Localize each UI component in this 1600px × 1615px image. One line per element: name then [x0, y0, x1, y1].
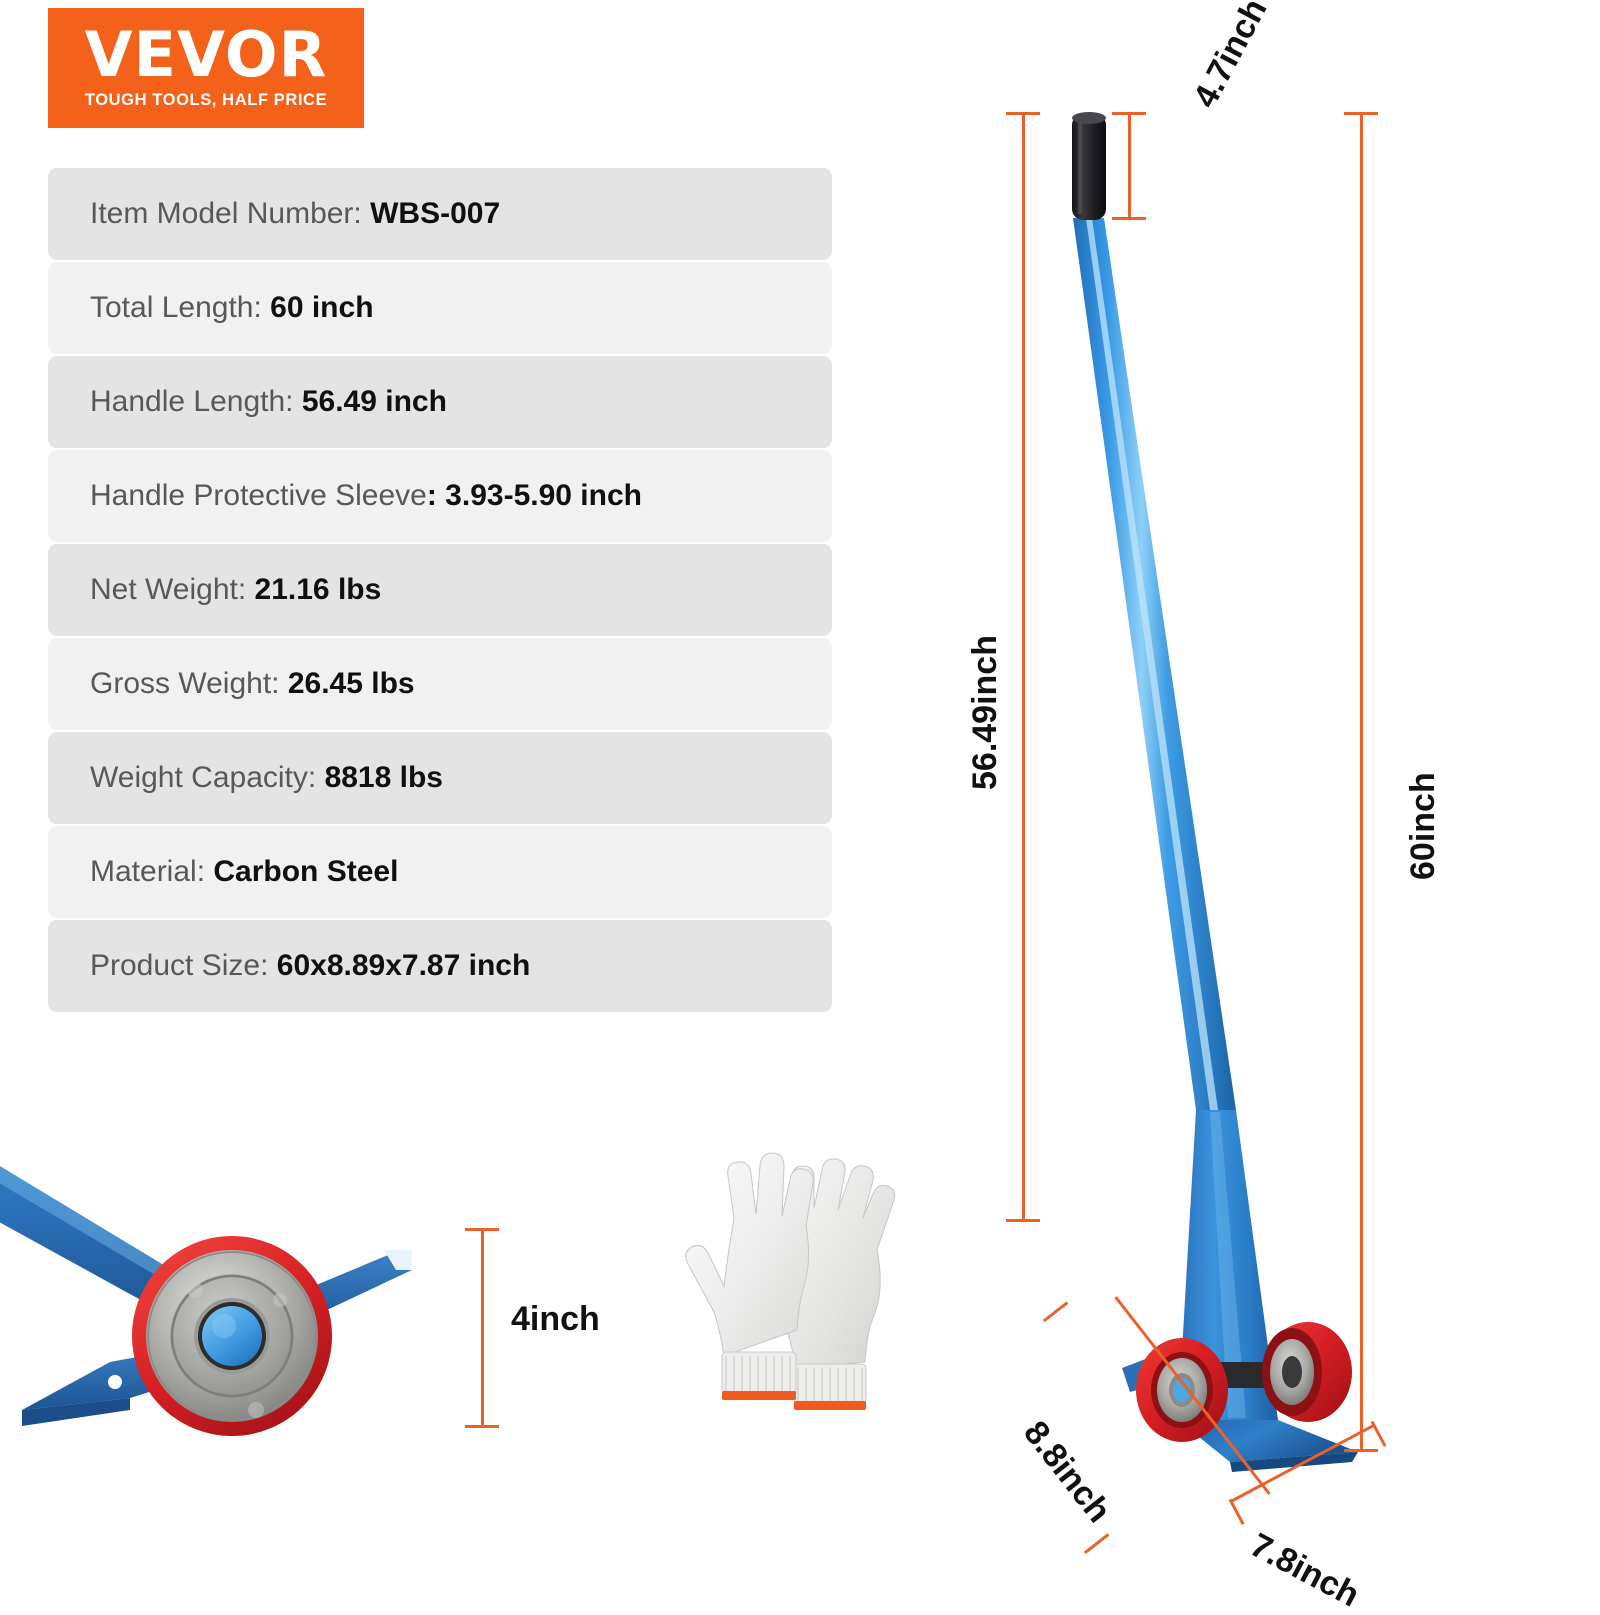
- dim-line-total: [1360, 112, 1363, 1452]
- spec-row: Handle Length: 56.49 inch: [48, 356, 832, 448]
- spec-label: Gross Weight:: [90, 667, 288, 701]
- spec-label: Product Size:: [90, 949, 277, 983]
- toe-plate: [1178, 1420, 1358, 1462]
- spec-label: Handle Length:: [90, 385, 302, 419]
- dim-line-sleeve: [1128, 112, 1131, 220]
- dim-cap-handle-bottom: [1006, 1219, 1040, 1222]
- spec-row: Net Weight: 21.16 lbs: [48, 544, 832, 636]
- rear-fin: [1122, 1340, 1200, 1392]
- product-spec-sheet: VEVOR TOUGH TOOLS, HALF PRICE Item Model…: [0, 0, 1600, 1600]
- brand-tagline: TOUGH TOOLS, HALF PRICE: [85, 91, 327, 110]
- spec-label: Handle Protective Sleeve: [90, 479, 427, 513]
- spec-value: 8818 lbs: [325, 761, 443, 795]
- dim-line-handle: [1022, 112, 1025, 1222]
- spec-value: 56.49 inch: [302, 385, 447, 419]
- wheel-right: [1262, 1322, 1352, 1422]
- dim-label-width: 7.8inch: [1244, 1526, 1366, 1615]
- dim-label-total: 60inch: [1404, 772, 1443, 880]
- spec-row: Product Size: 60x8.89x7.87 inch: [48, 920, 832, 1012]
- spec-label: Total Length:: [90, 291, 270, 325]
- closeup-wheel: [132, 1236, 332, 1436]
- spec-value: 26.45 lbs: [288, 667, 415, 701]
- dim-cap-sleeve-bottom: [1112, 217, 1146, 220]
- glove-cuff-band: [722, 1391, 796, 1400]
- dim-line-wheel: [481, 1228, 484, 1428]
- dim-label-depth: 8.8inch: [1015, 1414, 1118, 1530]
- dim-label-wheel: 4inch: [511, 1300, 600, 1339]
- spec-row: Gross Weight: 26.45 lbs: [48, 638, 832, 730]
- dim-cap-sleeve-top: [1112, 112, 1146, 115]
- dim-cap-depth-end: [1084, 1533, 1109, 1554]
- spec-row: Material: Carbon Steel: [48, 826, 832, 918]
- dim-cap-width-end: [1371, 1421, 1387, 1447]
- glove-cuff-band: [794, 1401, 866, 1410]
- spec-value: 21.16 lbs: [255, 573, 382, 607]
- handle-grip-sleeve: [1072, 112, 1106, 220]
- spec-value: WBS-007: [370, 197, 500, 231]
- brand-name: VEVOR: [85, 26, 328, 85]
- mounting-hole: [108, 1375, 122, 1389]
- dim-line-depth: [1114, 1296, 1270, 1495]
- spec-value: : 3.93-5.90 inch: [427, 479, 642, 513]
- vevor-logo: VEVOR TOUGH TOOLS, HALF PRICE: [48, 8, 364, 128]
- spec-value: 60 inch: [270, 291, 373, 325]
- blade-plate: [1178, 1110, 1278, 1420]
- dim-cap-total-top: [1344, 112, 1378, 115]
- dim-cap-width-start: [1229, 1499, 1245, 1525]
- spec-row: Item Model Number: WBS-007: [48, 168, 832, 260]
- spec-label: Item Model Number:: [90, 197, 370, 231]
- spec-label: Material:: [90, 855, 213, 889]
- handle-tube: [1073, 218, 1236, 1110]
- dim-cap-depth-start: [1043, 1301, 1068, 1322]
- spec-label: Weight Capacity:: [90, 761, 325, 795]
- spec-row: Total Length: 60 inch: [48, 262, 832, 354]
- dim-line-width: [1231, 1424, 1375, 1503]
- wheel-closeup-illustration: [0, 1110, 440, 1510]
- spec-value: 60x8.89x7.87 inch: [277, 949, 531, 983]
- dim-cap-handle-top: [1006, 112, 1040, 115]
- spec-value: Carbon Steel: [213, 855, 398, 889]
- dim-cap-total-bottom: [1344, 1449, 1378, 1452]
- spec-row: Weight Capacity: 8818 lbs: [48, 732, 832, 824]
- work-gloves-illustration: [672, 1118, 922, 1418]
- spec-row: Handle Protective Sleeve: 3.93-5.90 inch: [48, 450, 832, 542]
- glove-front: [686, 1153, 814, 1400]
- dim-label-handle: 56.49inch: [966, 635, 1005, 790]
- specification-list: Item Model Number: WBS-007 Total Length:…: [48, 168, 832, 1014]
- wheel-center-cap: [202, 1306, 262, 1366]
- spec-label: Net Weight:: [90, 573, 255, 607]
- dim-cap-wheel-bottom: [465, 1425, 499, 1428]
- dim-label-sleeve: 4.7inch: [1186, 0, 1275, 114]
- dim-cap-wheel-top: [465, 1228, 499, 1231]
